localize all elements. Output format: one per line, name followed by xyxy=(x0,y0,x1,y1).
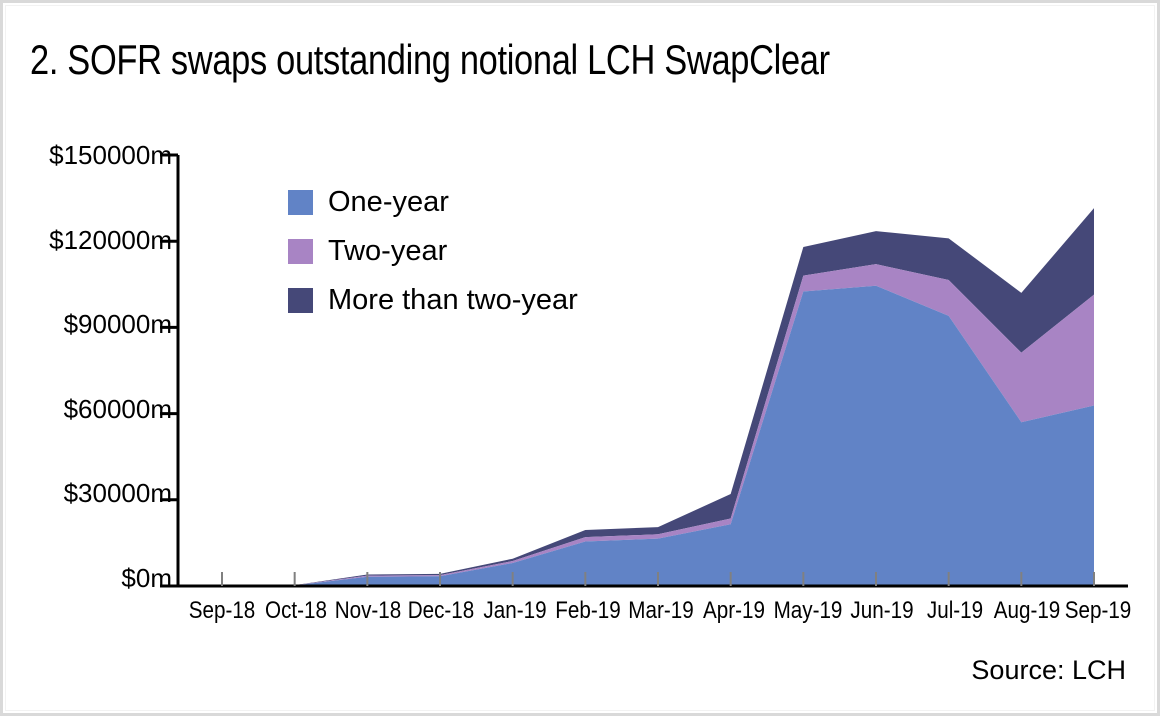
legend-label-more-than-two-year: More than two-year xyxy=(328,286,578,315)
legend-item-one-year[interactable]: One-year xyxy=(288,178,578,227)
legend-item-two-year[interactable]: Two-year xyxy=(288,227,578,276)
legend-label-one-year: One-year xyxy=(328,188,449,217)
legend-swatch-one-year xyxy=(288,190,313,215)
chart-legend: One-year Two-year More than two-year xyxy=(288,178,578,325)
legend-swatch-two-year xyxy=(288,239,313,264)
stacked-area-plot xyxy=(0,0,1160,716)
chart-page: 2. SOFR swaps outstanding notional LCH S… xyxy=(0,0,1160,716)
legend-swatch-more-than-two-year xyxy=(288,288,313,313)
legend-label-two-year: Two-year xyxy=(328,237,447,266)
source-note: Source: LCH xyxy=(971,655,1126,686)
legend-item-more-than-two-year[interactable]: More than two-year xyxy=(288,276,578,325)
y-axis-ticks xyxy=(160,155,178,586)
